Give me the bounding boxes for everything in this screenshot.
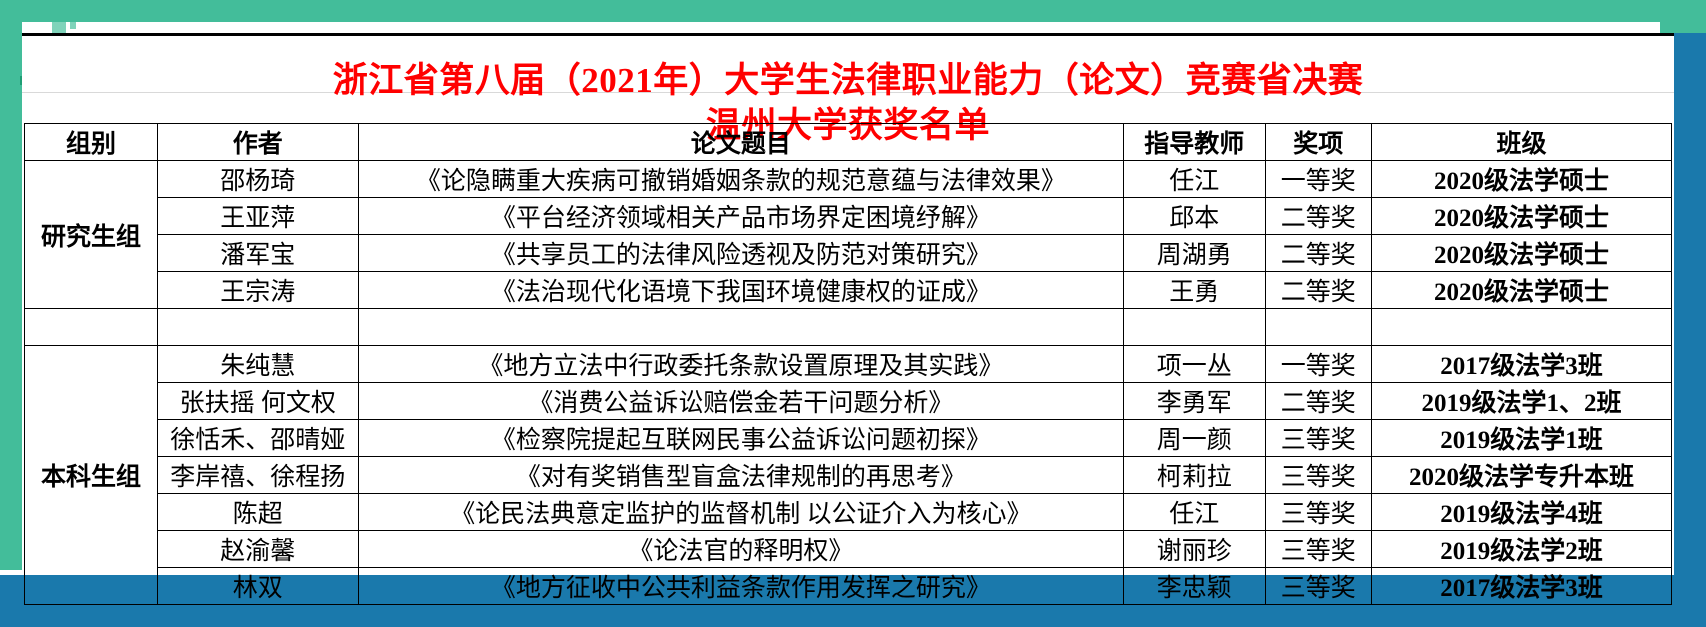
- teacher-cell: 王勇: [1124, 272, 1265, 309]
- paper-title-cell: 《检察院提起互联网民事公益诉讼问题初探》: [358, 420, 1123, 457]
- column-header-3: 指导教师: [1124, 124, 1265, 161]
- spreadsheet-sheet: 浙江省第八届（2021年）大学生法律职业能力（论文）竞赛省决赛 温州大学获奖名单…: [22, 33, 1674, 575]
- table-row[interactable]: 潘军宝《共享员工的法律风险透视及防范对策研究》周湖勇二等奖2020级法学硕士: [25, 235, 1672, 272]
- column-header-4: 奖项: [1265, 124, 1372, 161]
- teacher-cell: 李勇军: [1124, 383, 1265, 420]
- table-row[interactable]: 王亚萍《平台经济领域相关产品市场界定困境纾解》邱本二等奖2020级法学硕士: [25, 198, 1672, 235]
- paper-title-cell: 《论隐瞒重大疾病可撤销婚姻条款的规范意蕴与法律效果》: [358, 161, 1123, 198]
- author-cell: 林双: [158, 568, 359, 605]
- spacer-cell: [1124, 309, 1265, 346]
- paper-title-cell: 《消费公益诉讼赔偿金若干问题分析》: [358, 383, 1123, 420]
- title-block: 浙江省第八届（2021年）大学生法律职业能力（论文）竞赛省决赛 温州大学获奖名单: [22, 36, 1674, 123]
- table-row[interactable]: 研究生组邵杨琦《论隐瞒重大疾病可撤销婚姻条款的规范意蕴与法律效果》任江一等奖20…: [25, 161, 1672, 198]
- teacher-cell: 项一丛: [1124, 346, 1265, 383]
- author-cell: 潘军宝: [158, 235, 359, 272]
- paper-title-cell: 《对有奖销售型盲盒法律规制的再思考》: [358, 457, 1123, 494]
- table-row[interactable]: 张扶摇 何文权《消费公益诉讼赔偿金若干问题分析》李勇军二等奖2019级法学1、2…: [25, 383, 1672, 420]
- slide-root: 浙江省第八届（2021年）大学生法律职业能力（论文）竞赛省决赛 温州大学获奖名单…: [0, 0, 1706, 627]
- teacher-cell: 李忠颖: [1124, 568, 1265, 605]
- decor-teal-top-right-band: [1660, 0, 1706, 33]
- teacher-cell: 周湖勇: [1124, 235, 1265, 272]
- award-cell: 二等奖: [1265, 198, 1372, 235]
- author-cell: 朱纯慧: [158, 346, 359, 383]
- teacher-cell: 任江: [1124, 161, 1265, 198]
- column-header-5: 班级: [1372, 124, 1672, 161]
- spacer-cell: [1372, 309, 1672, 346]
- paper-title-cell: 《论民法典意定监护的监督机制 以公证介入为核心》: [358, 494, 1123, 531]
- award-cell: 一等奖: [1265, 346, 1372, 383]
- teacher-cell: 邱本: [1124, 198, 1265, 235]
- class-cell: 2019级法学4班: [1372, 494, 1672, 531]
- table-row[interactable]: 陈超《论民法典意定监护的监督机制 以公证介入为核心》任江三等奖2019级法学4班: [25, 494, 1672, 531]
- class-cell: 2019级法学1班: [1372, 420, 1672, 457]
- table-row[interactable]: 王宗涛《法治现代化语境下我国环境健康权的证成》王勇二等奖2020级法学硕士: [25, 272, 1672, 309]
- decor-teal-top-band: [0, 0, 1706, 22]
- spacer-cell: [158, 309, 359, 346]
- decor-teal-chip-b: [70, 22, 76, 29]
- award-cell: 二等奖: [1265, 383, 1372, 420]
- table-row[interactable]: 本科生组朱纯慧《地方立法中行政委托条款设置原理及其实践》项一丛一等奖2017级法…: [25, 346, 1672, 383]
- paper-title-cell: 《共享员工的法律风险透视及防范对策研究》: [358, 235, 1123, 272]
- paper-title-cell: 《地方立法中行政委托条款设置原理及其实践》: [358, 346, 1123, 383]
- table-row[interactable]: 李岸禧、徐程扬《对有奖销售型盲盒法律规制的再思考》柯莉拉三等奖2020级法学专升…: [25, 457, 1672, 494]
- author-cell: 王宗涛: [158, 272, 359, 309]
- author-cell: 张扶摇 何文权: [158, 383, 359, 420]
- award-cell: 一等奖: [1265, 161, 1372, 198]
- author-cell: 赵渝馨: [158, 531, 359, 568]
- award-cell: 三等奖: [1265, 420, 1372, 457]
- author-cell: 李岸禧、徐程扬: [158, 457, 359, 494]
- author-cell: 邵杨琦: [158, 161, 359, 198]
- paper-title-cell: 《法治现代化语境下我国环境健康权的证成》: [358, 272, 1123, 309]
- spacer-cell: [1265, 309, 1372, 346]
- class-cell: 2020级法学专升本班: [1372, 457, 1672, 494]
- award-cell: 三等奖: [1265, 568, 1372, 605]
- column-header-1: 作者: [158, 124, 359, 161]
- column-header-0: 组别: [25, 124, 158, 161]
- author-cell: 陈超: [158, 494, 359, 531]
- author-cell: 王亚萍: [158, 198, 359, 235]
- award-list-table: 组别作者论文题目指导教师奖项班级研究生组邵杨琦《论隐瞒重大疾病可撤销婚姻条款的规…: [24, 123, 1672, 605]
- award-cell: 三等奖: [1265, 494, 1372, 531]
- group-cell-1: 本科生组: [25, 346, 158, 605]
- class-cell: 2020级法学硕士: [1372, 272, 1672, 309]
- group-cell-0: 研究生组: [25, 161, 158, 309]
- class-cell: 2017级法学3班: [1372, 568, 1672, 605]
- teacher-cell: 周一颜: [1124, 420, 1265, 457]
- page-title-line-1: 浙江省第八届（2021年）大学生法律职业能力（论文）竞赛省决赛: [22, 52, 1674, 103]
- decor-blue-right-inner: [1679, 40, 1701, 580]
- table-row[interactable]: 赵渝馨《论法官的释明权》谢丽珍三等奖2019级法学2班: [25, 531, 1672, 568]
- teacher-cell: 谢丽珍: [1124, 531, 1265, 568]
- class-cell: 2020级法学硕士: [1372, 198, 1672, 235]
- award-cell: 三等奖: [1265, 531, 1372, 568]
- column-header-2: 论文题目: [358, 124, 1123, 161]
- class-cell: 2020级法学硕士: [1372, 161, 1672, 198]
- table-row[interactable]: 徐恬禾、邵晴娅《检察院提起互联网民事公益诉讼问题初探》周一颜三等奖2019级法学…: [25, 420, 1672, 457]
- decor-teal-left-band: [0, 0, 22, 570]
- table-row[interactable]: 林双《地方征收中公共利益条款作用发挥之研究》李忠颖三等奖2017级法学3班: [25, 568, 1672, 605]
- author-cell: 徐恬禾、邵晴娅: [158, 420, 359, 457]
- paper-title-cell: 《平台经济领域相关产品市场界定困境纾解》: [358, 198, 1123, 235]
- class-cell: 2020级法学硕士: [1372, 235, 1672, 272]
- class-cell: 2019级法学2班: [1372, 531, 1672, 568]
- paper-title-cell: 《地方征收中公共利益条款作用发挥之研究》: [358, 568, 1123, 605]
- table-header-row: 组别作者论文题目指导教师奖项班级: [25, 124, 1672, 161]
- class-cell: 2019级法学1、2班: [1372, 383, 1672, 420]
- class-cell: 2017级法学3班: [1372, 346, 1672, 383]
- spacer-row: [25, 309, 1672, 346]
- spacer-cell: [358, 309, 1123, 346]
- award-cell: 二等奖: [1265, 235, 1372, 272]
- spacer-cell: [25, 309, 158, 346]
- award-cell: 二等奖: [1265, 272, 1372, 309]
- teacher-cell: 柯莉拉: [1124, 457, 1265, 494]
- teacher-cell: 任江: [1124, 494, 1265, 531]
- award-cell: 三等奖: [1265, 457, 1372, 494]
- paper-title-cell: 《论法官的释明权》: [358, 531, 1123, 568]
